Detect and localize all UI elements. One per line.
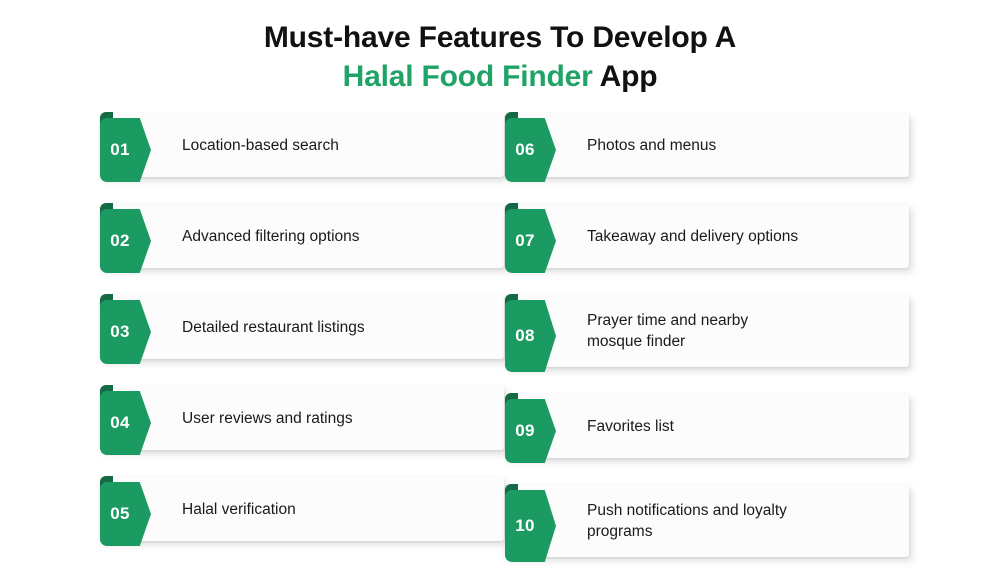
feature-number: 01 — [100, 118, 140, 182]
feature-number: 08 — [505, 300, 545, 372]
feature-column-left: 01Location-based search02Advanced filter… — [96, 106, 504, 561]
feature-label: Advanced filtering options — [182, 204, 490, 268]
title-suffix-text: App — [593, 60, 658, 93]
feature-card[interactable]: 05Halal verification — [96, 470, 504, 548]
feature-card[interactable]: 04User reviews and ratings — [96, 379, 504, 457]
feature-card[interactable]: 01Location-based search — [96, 106, 504, 184]
title-line-1: Must-have Features To Develop A — [0, 18, 1000, 57]
feature-number: 04 — [100, 391, 140, 455]
feature-label: Takeaway and delivery options — [587, 204, 895, 268]
feature-label: Favorites list — [587, 394, 895, 458]
feature-column-right: 06Photos and menus07Takeaway and deliver… — [501, 106, 909, 577]
feature-number: 03 — [100, 300, 140, 364]
feature-card[interactable]: 02Advanced filtering options — [96, 197, 504, 275]
feature-card[interactable]: 07Takeaway and delivery options — [501, 197, 909, 275]
feature-label: Detailed restaurant listings — [182, 295, 490, 359]
feature-number: 07 — [505, 209, 545, 273]
feature-label: Halal verification — [182, 477, 490, 541]
feature-label: Photos and menus — [587, 113, 895, 177]
page-title: Must-have Features To Develop A Halal Fo… — [0, 18, 1000, 96]
title-line-2: Halal Food Finder App — [0, 57, 1000, 96]
feature-card[interactable]: 08Prayer time and nearby mosque finder — [501, 288, 909, 374]
feature-number: 06 — [505, 118, 545, 182]
feature-number: 09 — [505, 399, 545, 463]
feature-card[interactable]: 03Detailed restaurant listings — [96, 288, 504, 366]
feature-card[interactable]: 09Favorites list — [501, 387, 909, 465]
feature-number: 05 — [100, 482, 140, 546]
feature-label: Prayer time and nearby mosque finder — [587, 295, 895, 367]
feature-number: 10 — [505, 490, 545, 562]
title-accent-text: Halal Food Finder — [343, 60, 593, 93]
feature-label: Push notifications and loyalty programs — [587, 485, 895, 557]
feature-board: 01Location-based search02Advanced filter… — [0, 106, 1000, 546]
feature-card[interactable]: 10Push notifications and loyalty program… — [501, 478, 909, 564]
feature-label: Location-based search — [182, 113, 490, 177]
feature-card[interactable]: 06Photos and menus — [501, 106, 909, 184]
feature-number: 02 — [100, 209, 140, 273]
feature-label: User reviews and ratings — [182, 386, 490, 450]
